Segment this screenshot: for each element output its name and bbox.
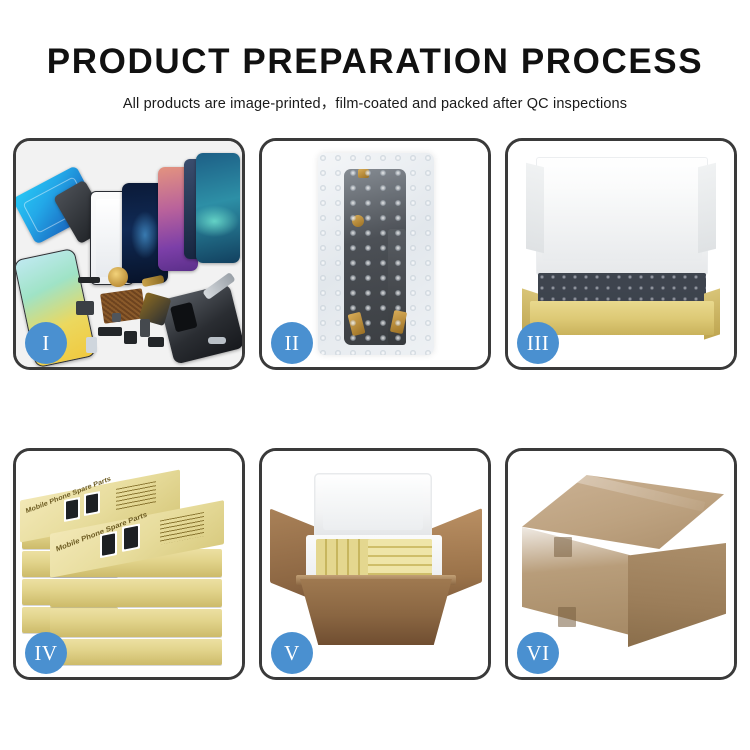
page-title: PRODUCT PREPARATION PROCESS	[0, 0, 750, 81]
carton-tab-upper-graphic	[554, 537, 572, 557]
box-label-phone-image	[122, 523, 140, 551]
process-step-panel-1[interactable]: I	[13, 138, 245, 370]
small-part-graphic	[76, 301, 94, 315]
box-label-phone-image	[64, 497, 80, 522]
foam-lid-graphic	[536, 157, 708, 275]
small-part-graphic	[86, 337, 97, 353]
step-badge-4: IV	[25, 632, 67, 674]
product-preparation-infographic: PRODUCT PREPARATION PROCESS All products…	[0, 0, 750, 750]
small-part-graphic	[124, 331, 137, 344]
box-label-spec-lines	[116, 481, 156, 511]
step-badge-3: III	[517, 322, 559, 364]
process-step-panel-2[interactable]: II	[259, 138, 491, 370]
connector-graphic	[358, 169, 369, 178]
kraft-box-slab	[50, 639, 222, 665]
bubble-wrap-bag-graphic	[318, 153, 434, 355]
foam-box-lid-graphic	[314, 473, 432, 539]
kraft-box-front-graphic	[530, 301, 714, 335]
step-badge-5: V	[271, 632, 313, 674]
small-part-graphic	[98, 327, 122, 336]
process-step-panel-5[interactable]: V	[259, 448, 491, 680]
process-step-panel-3[interactable]: III	[505, 138, 737, 370]
phone-housing-graphic	[159, 283, 242, 364]
foam-lid-right-graphic	[698, 163, 716, 253]
page-subtitle: All products are image-printed，film-coat…	[0, 81, 750, 113]
small-part-graphic	[148, 337, 164, 347]
carton-tab-lower-graphic	[558, 607, 576, 627]
step-badge-6: VI	[517, 632, 559, 674]
coil-part-graphic	[108, 267, 128, 287]
header: PRODUCT PREPARATION PROCESS All products…	[0, 0, 750, 130]
kraft-box-slab	[50, 579, 222, 607]
small-part-graphic	[112, 313, 121, 322]
box-label-spec-lines	[160, 512, 204, 545]
small-part-graphic	[78, 277, 100, 283]
inner-kraft-boxes-stacked-graphic	[368, 539, 432, 577]
process-step-panel-4[interactable]: Mobile Phone Spare Parts Mobile Phone Sp…	[13, 448, 245, 680]
carton-right-face-graphic	[628, 543, 726, 647]
process-step-panel-6[interactable]: VI	[505, 448, 737, 680]
carton-left-face-graphic	[522, 527, 630, 635]
small-part-graphic	[140, 319, 150, 337]
kraft-box-slab	[50, 609, 222, 637]
step-badge-2: II	[271, 322, 313, 364]
connector-graphic	[352, 215, 364, 227]
teal-phone-graphic	[196, 153, 240, 263]
process-steps-grid: I II	[13, 138, 737, 683]
box-label-phone-image	[100, 531, 117, 558]
foam-lid-left-graphic	[526, 163, 544, 253]
step-badge-1: I	[25, 322, 67, 364]
box-label-phone-image	[84, 491, 100, 516]
carton-front-graphic	[300, 579, 452, 645]
screws-graphic	[208, 337, 226, 344]
